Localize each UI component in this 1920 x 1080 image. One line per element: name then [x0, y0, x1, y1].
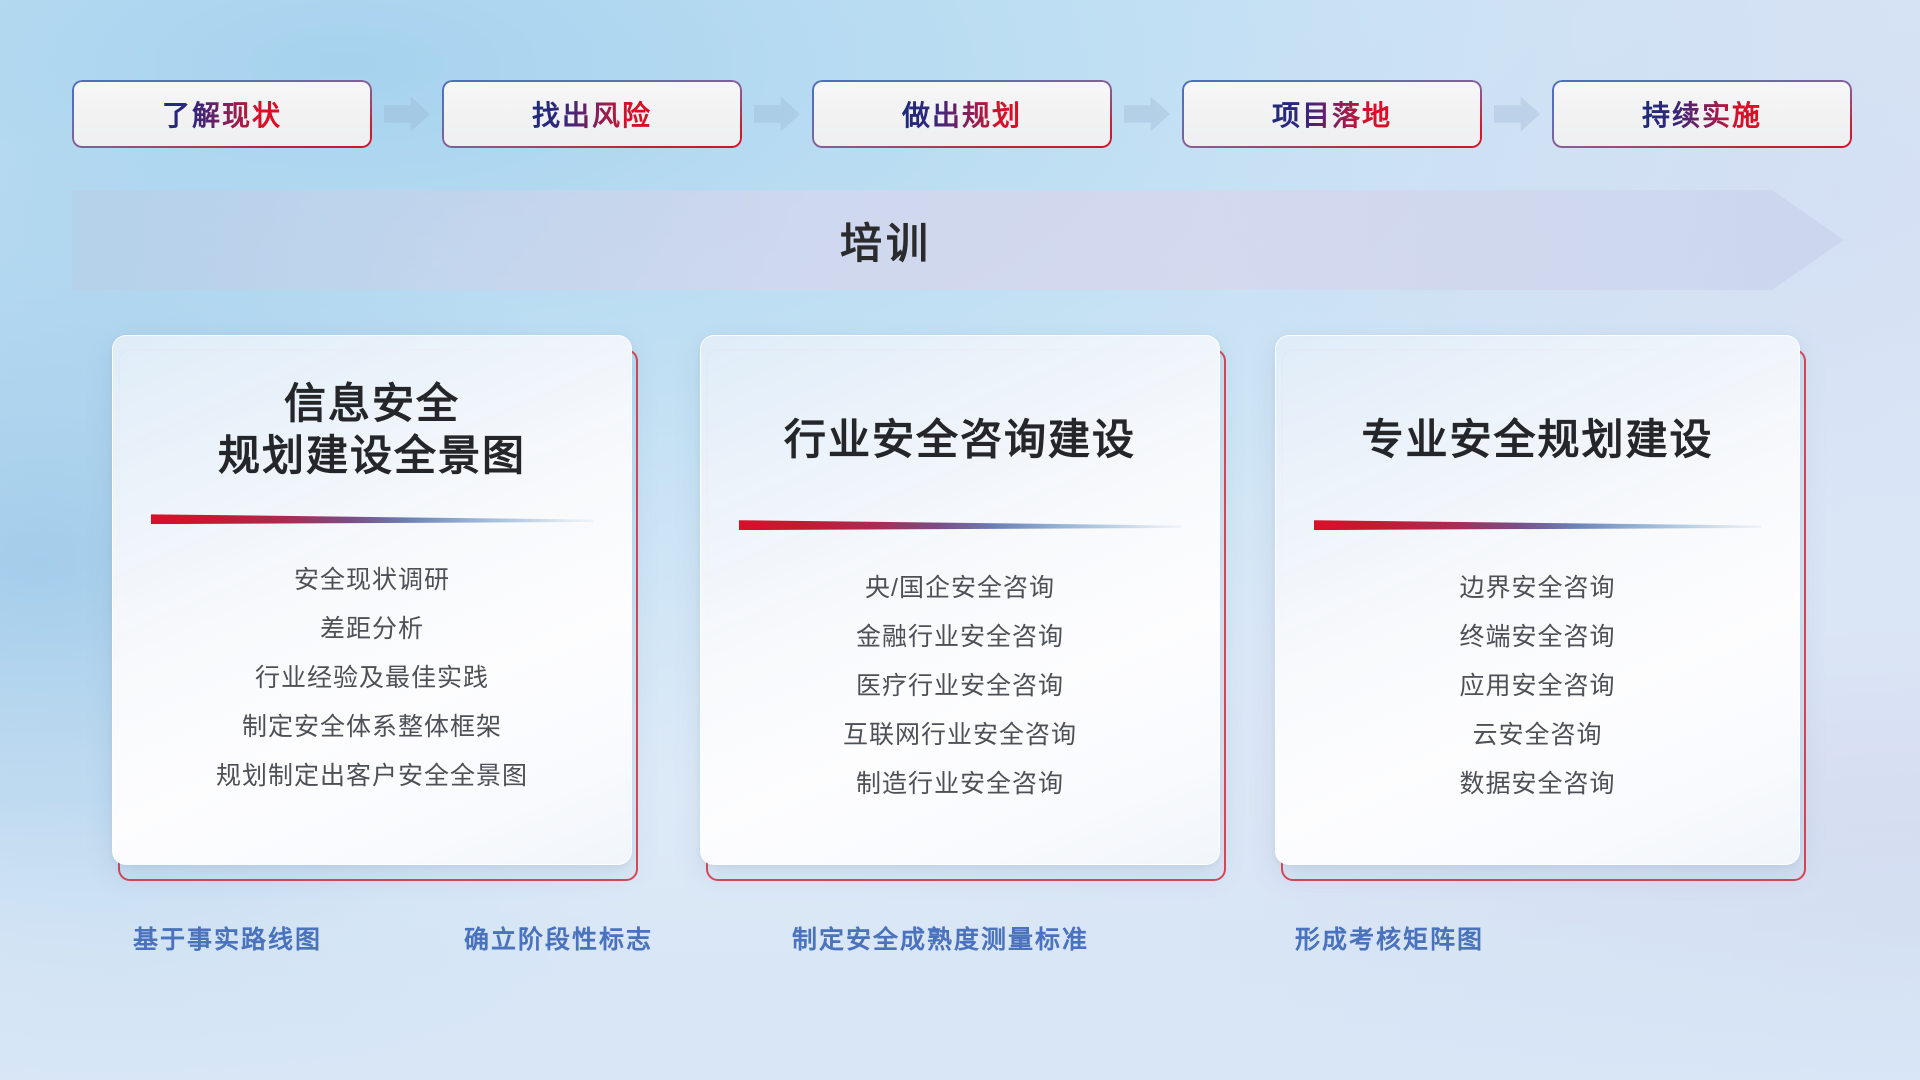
card-divider	[739, 516, 1181, 532]
card-list-item[interactable]: 央/国企安全咨询	[701, 576, 1219, 601]
training-banner-title: 培训	[0, 190, 1772, 290]
card-title-line: 行业安全咨询建设	[784, 414, 1136, 466]
bottom-caption-3: 制定安全成熟度测量标准	[792, 920, 1089, 956]
card-list-item[interactable]: 安全现状调研	[113, 568, 631, 593]
card-2[interactable]: 行业安全咨询建设 央/国企安全咨询 金融行业安全咨询 医疗行业安全咨询 互联网行…	[700, 335, 1220, 865]
card-list-item[interactable]: 差距分析	[113, 617, 631, 642]
card-list-item[interactable]: 制造行业安全咨询	[701, 772, 1219, 797]
bottom-caption-2: 确立阶段性标志	[464, 920, 653, 956]
process-step-2[interactable]: 找出风险	[442, 80, 742, 148]
card-divider	[1314, 516, 1761, 532]
card-list-item[interactable]: 应用安全咨询	[1276, 674, 1799, 699]
card-title-line: 专业安全规划建设	[1361, 414, 1713, 466]
process-step-5[interactable]: 持续实施	[1552, 80, 1852, 148]
card-3[interactable]: 专业安全规划建设 边界安全咨询 终端安全咨询 应用安全咨询 云安全咨询 数据安全…	[1275, 335, 1800, 865]
process-step-label: 了解现状	[162, 94, 282, 134]
card-list-item[interactable]: 金融行业安全咨询	[701, 625, 1219, 650]
arrow-right-icon	[384, 94, 430, 134]
card-list-item[interactable]: 行业经验及最佳实践	[113, 666, 631, 691]
card-1[interactable]: 信息安全 规划建设全景图 安全现状调研 差距分析 行业经验及最佳实践 制定安全体…	[112, 335, 632, 865]
arrow-right-icon	[754, 94, 800, 134]
process-step-label: 项目落地	[1272, 94, 1392, 134]
card-surface: 行业安全咨询建设 央/国企安全咨询 金融行业安全咨询 医疗行业安全咨询 互联网行…	[700, 335, 1220, 865]
card-divider-bar	[739, 518, 1181, 530]
card-title-line: 规划建设全景图	[218, 430, 526, 482]
bottom-caption-1: 基于事实路线图	[133, 920, 322, 956]
process-step-1[interactable]: 了解现状	[72, 80, 372, 148]
process-step-4[interactable]: 项目落地	[1182, 80, 1482, 148]
card-divider-bar	[1314, 518, 1761, 530]
card-divider	[151, 510, 593, 526]
process-step-label: 持续实施	[1642, 94, 1762, 134]
card-list-item[interactable]: 医疗行业安全咨询	[701, 674, 1219, 699]
process-step-label: 做出规划	[902, 94, 1022, 134]
process-step-3[interactable]: 做出规划	[812, 80, 1112, 148]
card-title-line: 信息安全	[218, 378, 526, 430]
card-list-item[interactable]: 互联网行业安全咨询	[701, 723, 1219, 748]
card-surface: 专业安全规划建设 边界安全咨询 终端安全咨询 应用安全咨询 云安全咨询 数据安全…	[1275, 335, 1800, 865]
card-list-item[interactable]: 制定安全体系整体框架	[113, 715, 631, 740]
card-title: 信息安全 规划建设全景图	[218, 378, 526, 482]
arrow-right-icon	[1124, 94, 1170, 134]
card-item-list: 安全现状调研 差距分析 行业经验及最佳实践 制定安全体系整体框架 规划制定出客户…	[113, 568, 631, 789]
card-item-list: 边界安全咨询 终端安全咨询 应用安全咨询 云安全咨询 数据安全咨询	[1276, 576, 1799, 797]
card-divider-bar	[151, 512, 593, 524]
card-list-item[interactable]: 数据安全咨询	[1276, 772, 1799, 797]
bottom-caption-4: 形成考核矩阵图	[1295, 920, 1484, 956]
cards-row: 信息安全 规划建设全景图 安全现状调研 差距分析 行业经验及最佳实践 制定安全体…	[0, 335, 1920, 895]
card-title: 行业安全咨询建设	[784, 414, 1136, 466]
card-list-item[interactable]: 终端安全咨询	[1276, 625, 1799, 650]
arrow-right-icon	[1494, 94, 1540, 134]
card-surface: 信息安全 规划建设全景图 安全现状调研 差距分析 行业经验及最佳实践 制定安全体…	[112, 335, 632, 865]
process-step-label: 找出风险	[532, 94, 652, 134]
card-list-item[interactable]: 规划制定出客户安全全景图	[113, 764, 631, 789]
card-item-list: 央/国企安全咨询 金融行业安全咨询 医疗行业安全咨询 互联网行业安全咨询 制造行…	[701, 576, 1219, 797]
card-list-item[interactable]: 云安全咨询	[1276, 723, 1799, 748]
card-title: 专业安全规划建设	[1361, 414, 1713, 466]
process-flow-strip: 了解现状 找出风险 做出规划 项目落地 持续实施	[72, 78, 1852, 150]
card-list-item[interactable]: 边界安全咨询	[1276, 576, 1799, 601]
